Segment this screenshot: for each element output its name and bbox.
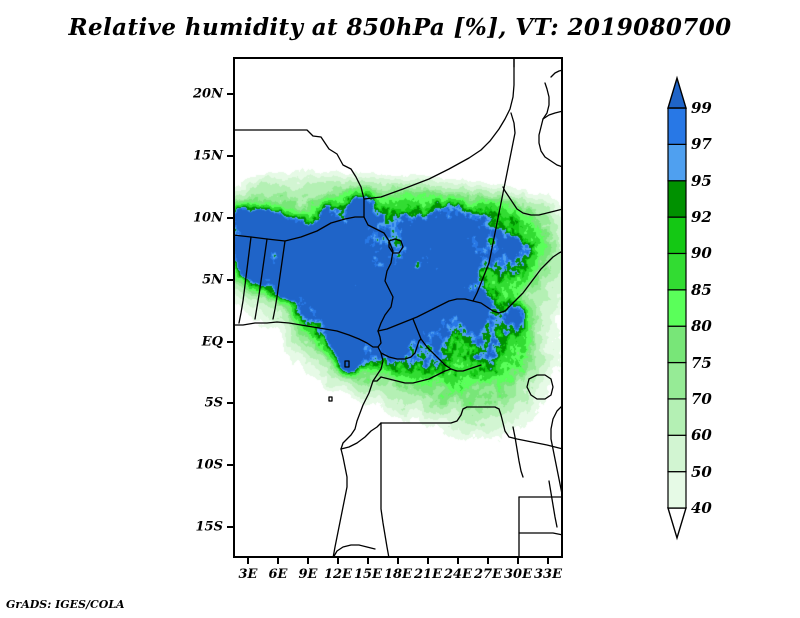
colorbar-label-80: 80: [691, 317, 712, 335]
colorbar-band-50-60: [668, 435, 686, 471]
colorbar-swatches: [664, 70, 694, 550]
colorbar-band-95-97: [668, 144, 686, 180]
colorbar-label-50: 50: [691, 463, 712, 481]
x-axis-label-18e: 18E: [384, 567, 412, 582]
colorbar-band-85-90: [668, 253, 686, 289]
x-axis-tick-3e: [247, 558, 249, 564]
x-axis-label-24e: 24E: [444, 567, 472, 582]
colorbar-label-99: 99: [691, 99, 712, 117]
x-axis-tick-24e: [457, 558, 459, 564]
x-axis-tick-6e: [277, 558, 279, 564]
x-axis-label-12e: 12E: [324, 567, 352, 582]
y-axis-label-5s: 5S: [205, 396, 223, 411]
x-axis-label-33e: 33E: [534, 567, 562, 582]
colorbar-band-90-92: [668, 217, 686, 253]
x-axis-label-15e: 15E: [354, 567, 382, 582]
x-axis-tick-27e: [487, 558, 489, 564]
x-axis-tick-30e: [517, 558, 519, 564]
colorbar-band-92-95: [668, 181, 686, 217]
y-axis-label-15n: 15N: [193, 148, 223, 163]
colorbar-label-70: 70: [691, 390, 712, 408]
colorbar-band-60-70: [668, 399, 686, 435]
colorbar-label-97: 97: [691, 135, 712, 153]
colorbar-label-90: 90: [691, 244, 712, 262]
x-axis-tick-18e: [397, 558, 399, 564]
colorbar-band-97-99: [668, 108, 686, 144]
colorbar-label-85: 85: [691, 281, 712, 299]
x-axis-tick-12e: [337, 558, 339, 564]
y-axis-label-20n: 20N: [193, 87, 223, 102]
colorbar-label-60: 60: [691, 426, 712, 444]
humidity-shading-layer: [233, 57, 563, 558]
x-axis-tick-21e: [427, 558, 429, 564]
x-axis-tick-9e: [307, 558, 309, 564]
x-axis-label-6e: 6E: [269, 567, 288, 582]
colorbar-label-75: 75: [691, 354, 712, 372]
page-title: Relative humidity at 850hPa [%], VT: 201…: [0, 14, 800, 41]
map-plot-area: [233, 57, 563, 558]
colorbar-band-40-50: [668, 472, 686, 508]
y-axis-label-15s: 15S: [196, 520, 223, 535]
x-axis-label-3e: 3E: [239, 567, 258, 582]
grads-credit: GrADS: IGES/COLA: [6, 598, 125, 611]
x-axis-label-27e: 27E: [474, 567, 502, 582]
y-axis-label-5n: 5N: [202, 272, 223, 287]
y-axis-label-eq: EQ: [202, 334, 223, 349]
colorbar-band-80-85: [668, 290, 686, 326]
x-axis-label-21e: 21E: [414, 567, 442, 582]
colorbar-label-92: 92: [691, 208, 712, 226]
x-axis-label-30e: 30E: [504, 567, 532, 582]
colorbar-label-40: 40: [691, 499, 712, 517]
x-axis-tick-15e: [367, 558, 369, 564]
colorbar-under-arrow: [668, 508, 686, 538]
colorbar-band-75-80: [668, 326, 686, 362]
colorbar: 405060707580859092959799: [664, 70, 794, 550]
x-axis-tick-33e: [547, 558, 549, 564]
y-axis-label-10n: 10N: [193, 210, 223, 225]
colorbar-over-arrow: [668, 78, 686, 108]
colorbar-band-70-75: [668, 363, 686, 399]
x-axis-label-9e: 9E: [299, 567, 318, 582]
colorbar-label-95: 95: [691, 172, 712, 190]
y-axis-label-10s: 10S: [196, 458, 223, 473]
